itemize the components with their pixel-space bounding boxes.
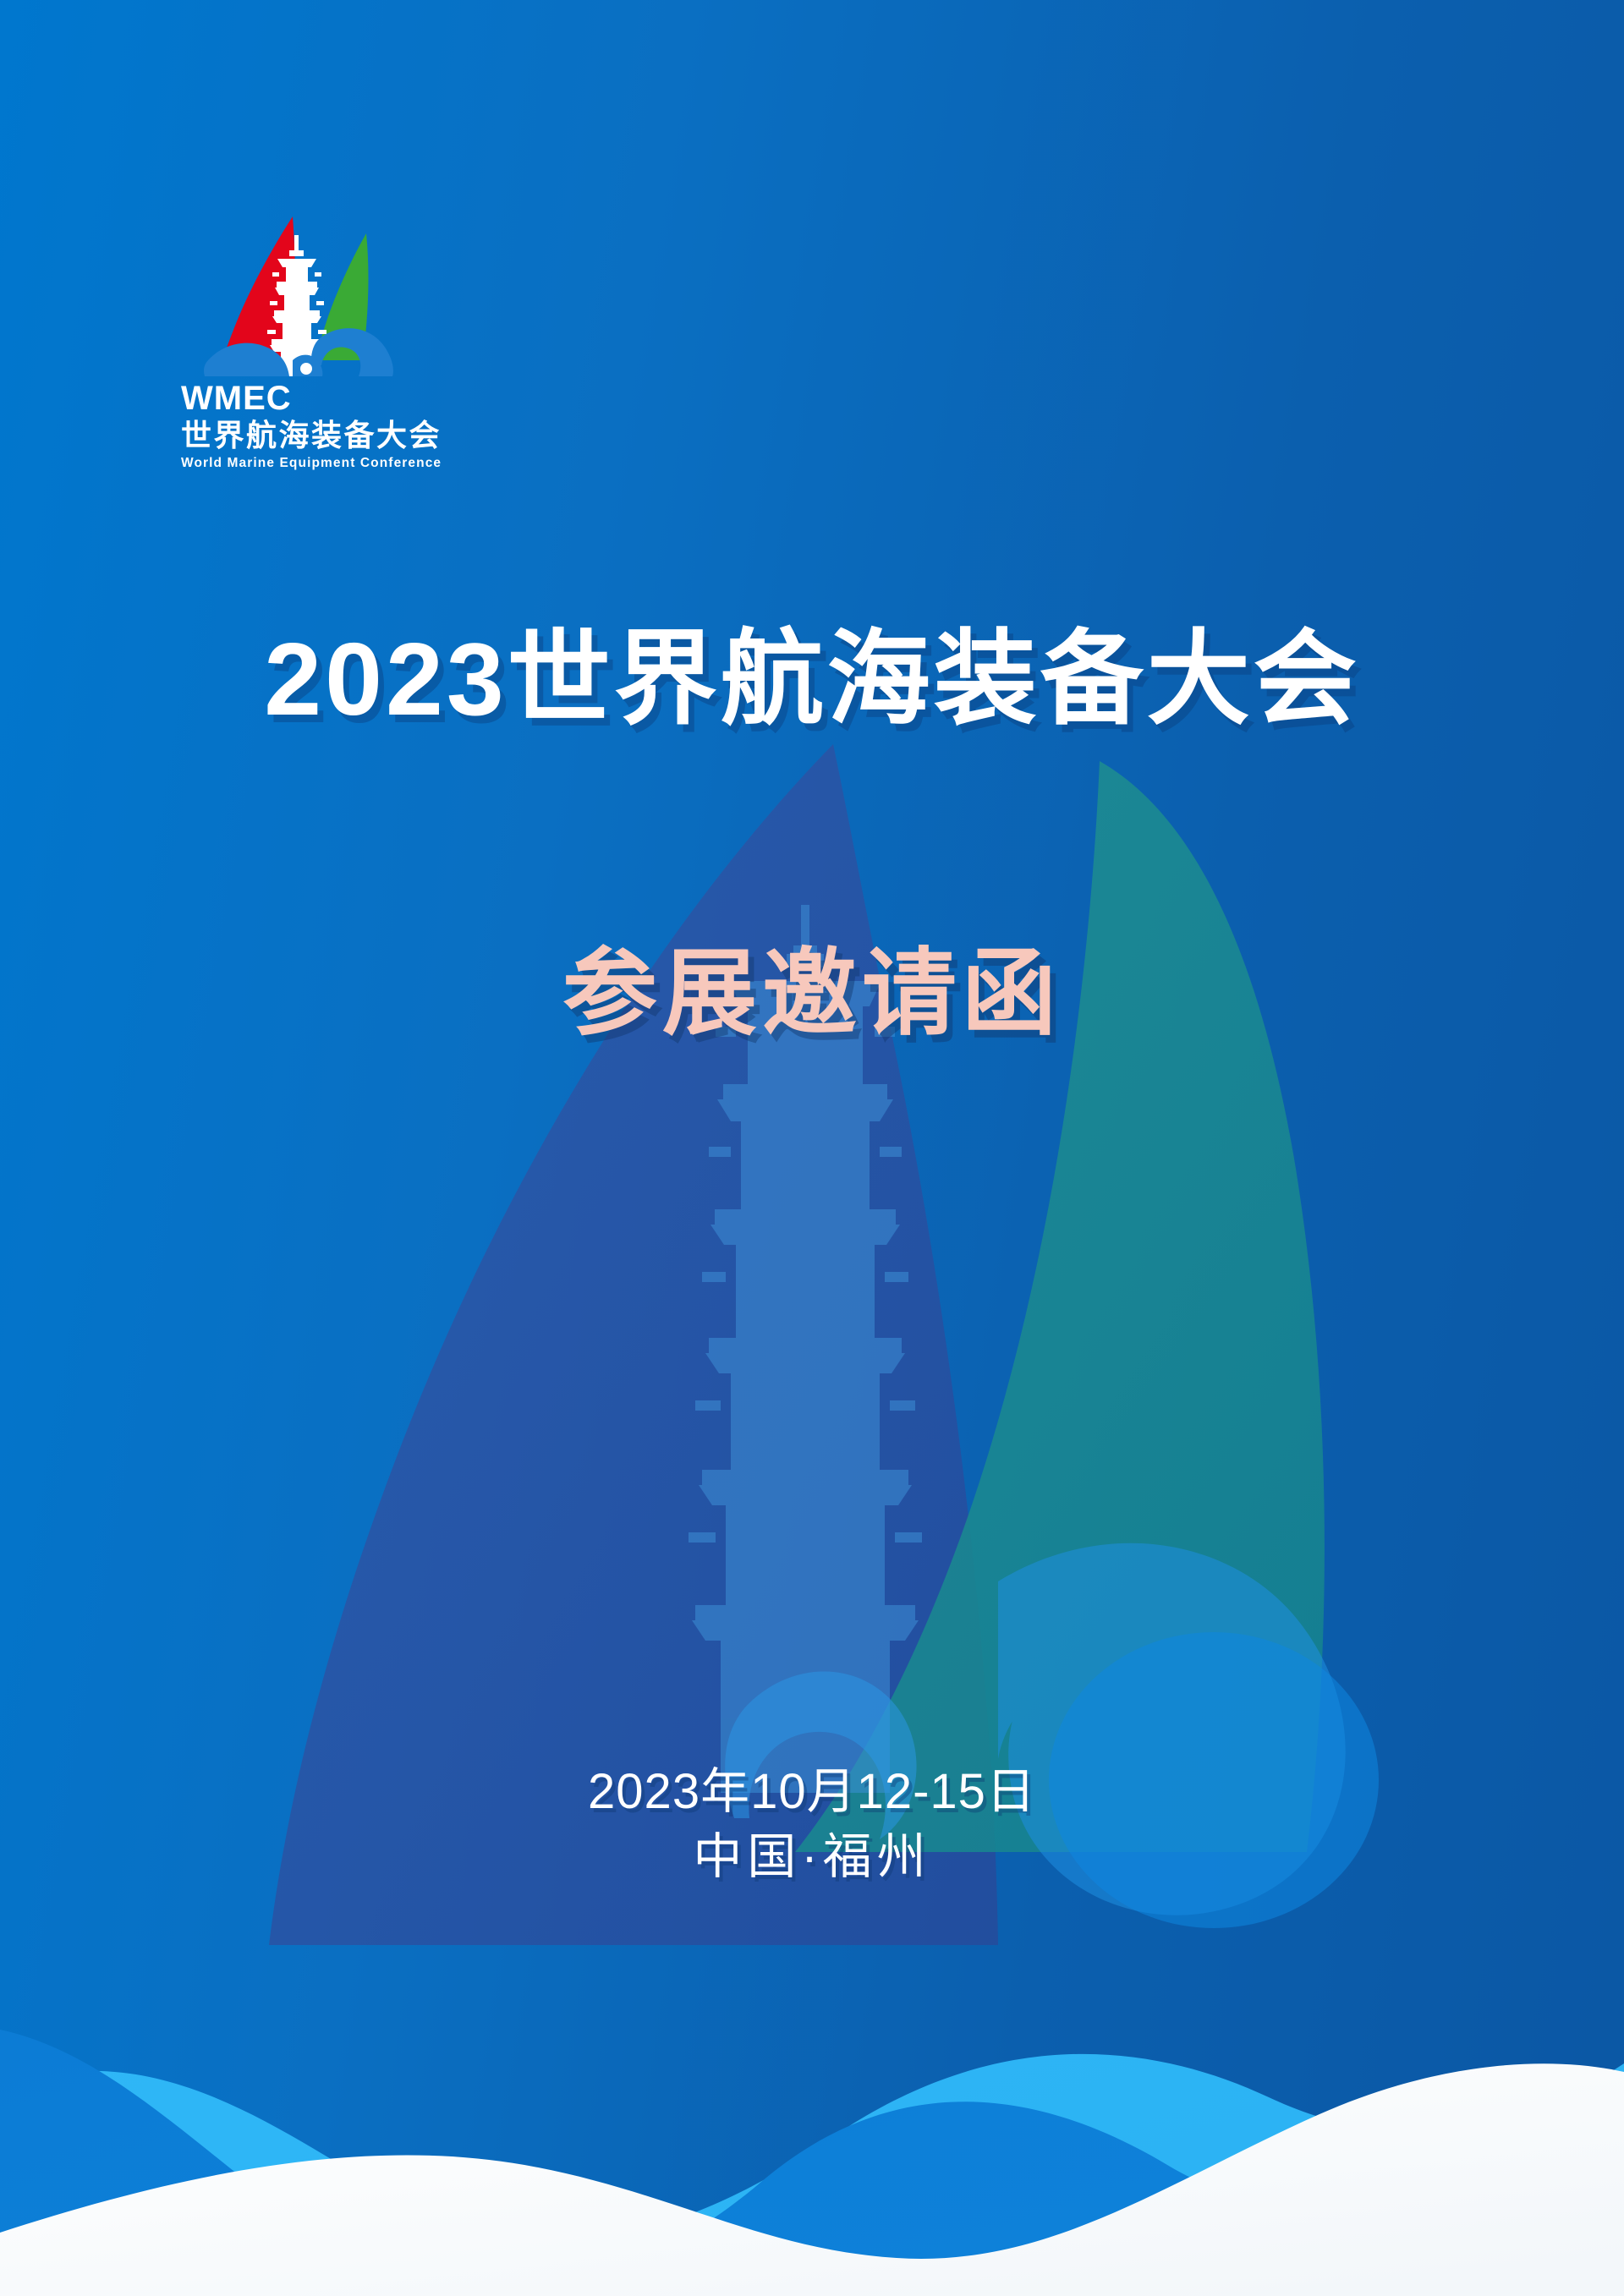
page-subtitle: 参展邀请函 — [0, 940, 1624, 1046]
wmec-logo: WMEC 世界航海装备大会 World Marine Equipment Con… — [176, 211, 430, 472]
logo-name-cn: 世界航海装备大会 — [181, 418, 430, 452]
logo-name-en: World Marine Equipment Conference — [181, 456, 430, 472]
logo-wordmark: WMEC 世界航海装备大会 World Marine Equipment Con… — [176, 381, 430, 472]
poster-canvas: WMEC 世界航海装备大会 World Marine Equipment Con… — [0, 0, 1624, 2296]
event-date: 2023年10月12-15日 — [0, 1759, 1624, 1824]
logo-acronym: WMEC — [181, 381, 430, 416]
page-title: 2023世界航海装备大会 — [0, 622, 1624, 737]
wave-mid-blue — [0, 2030, 1624, 2296]
event-info: 2023年10月12-15日 中国·福州 — [0, 1759, 1624, 1889]
wave-cyan — [0, 2054, 1624, 2296]
wmec-sailboat-pagoda-logo-icon — [193, 211, 400, 376]
event-location: 中国·福州 — [0, 1824, 1624, 1889]
decor-teal-sail — [795, 761, 1325, 1852]
wave-white — [0, 2063, 1624, 2296]
